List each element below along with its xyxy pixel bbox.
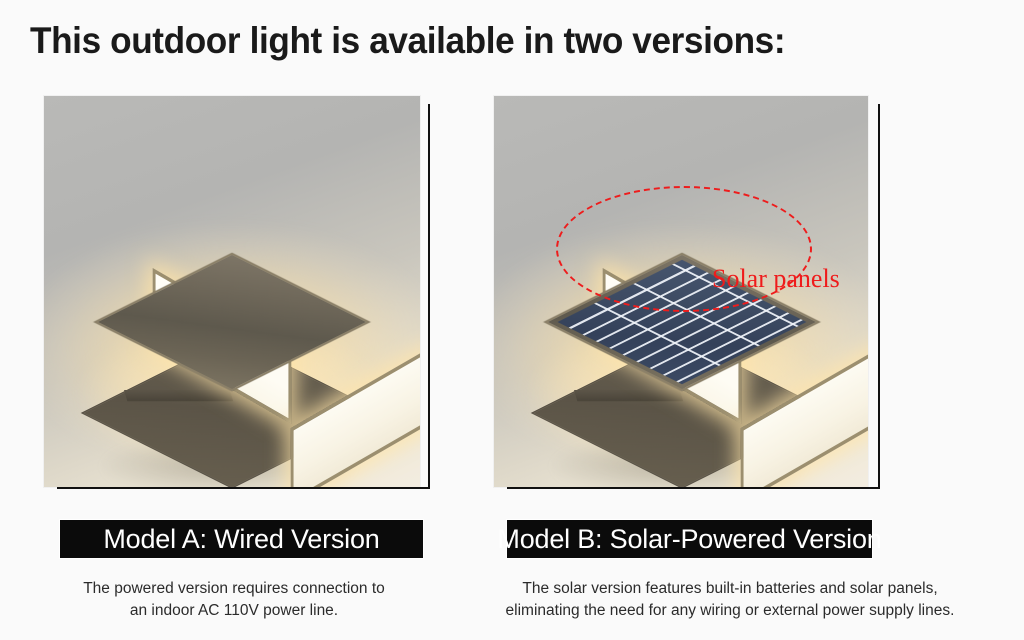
solar-panel-annotation-label: Solar panels [712,264,840,294]
banner-label-model-b: Model B: Solar-Powered Version [497,524,881,555]
caption-model-b-line2: eliminating the need for any wiring or e… [450,600,1010,622]
caption-model-b-line1: The solar version features built-in batt… [450,578,1010,600]
caption-model-b: The solar version features built-in batt… [450,578,1010,623]
banner-model-a: Model A: Wired Version [59,519,424,559]
caption-model-a: The powered version requires connection … [44,578,424,623]
lamp-base-front-edge [574,390,683,401]
product-image-model-b: Solar panels [494,96,868,487]
caption-model-a-line2: an indoor AC 110V power line. [44,600,424,622]
page-title: This outdoor light is available in two v… [30,20,785,62]
banner-label-model-a: Model A: Wired Version [103,524,379,555]
caption-model-a-line1: The powered version requires connection … [44,578,424,600]
product-card-model-a [44,96,420,487]
product-card-model-b: Solar panels [494,96,868,487]
product-image-model-a [44,96,420,487]
banner-model-b: Model B: Solar-Powered Version [506,519,873,559]
lamp-base-front-edge [124,390,233,401]
